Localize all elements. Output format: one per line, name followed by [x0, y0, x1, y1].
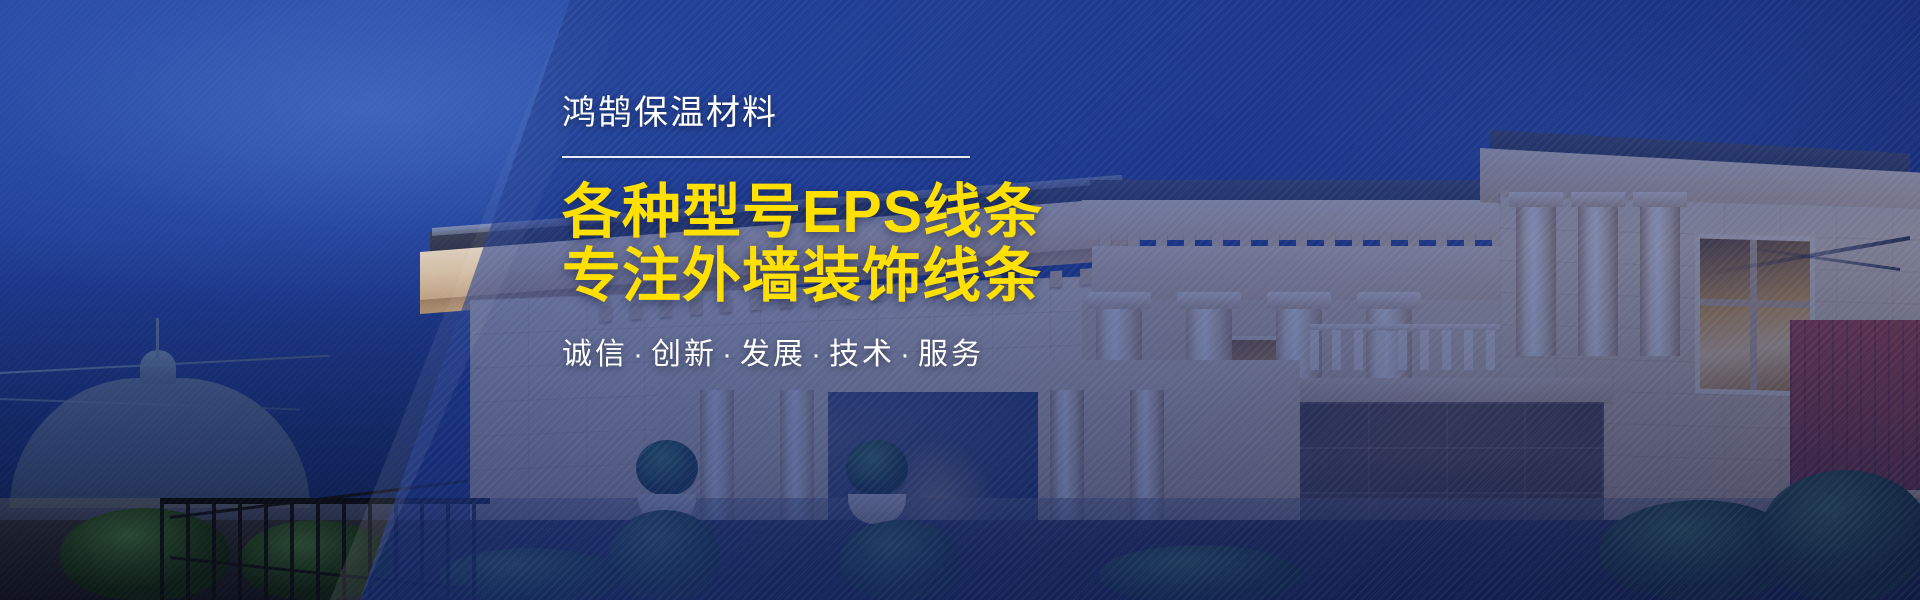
tagline-separator: ·	[722, 338, 735, 371]
shrub	[1100, 545, 1300, 600]
red-container-ribs	[1790, 320, 1920, 490]
garage-header	[1282, 378, 1612, 404]
right-wing-column	[1640, 206, 1680, 356]
tagline-item: 技术	[829, 338, 895, 371]
shrub	[610, 510, 720, 600]
divider-rule	[562, 156, 970, 158]
tagline-item: 服务	[918, 338, 984, 371]
tagline-item: 诚信	[562, 338, 628, 371]
balustrade	[1310, 330, 1500, 370]
planter-shrub	[636, 440, 698, 496]
banner-copy: 鸿鹄保温材料 各种型号EPS线条 专注外墙装饰线条 诚信·创新·发展·技术·服务	[562, 96, 1322, 370]
tagline-item: 发展	[740, 338, 806, 371]
tagline-separator: ·	[811, 338, 824, 371]
right-wing-column	[1578, 206, 1618, 356]
hero-banner: 鸿鹄保温材料 各种型号EPS线条 专注外墙装饰线条 诚信·创新·发展·技术·服务	[0, 0, 1920, 600]
tagline: 诚信·创新·发展·技术·服务	[562, 340, 1322, 370]
tagline-item: 创新	[651, 338, 717, 371]
right-wing-column	[1516, 206, 1556, 356]
company-name: 鸿鹄保温材料	[562, 96, 1322, 130]
headline-line-1: 各种型号EPS线条	[562, 179, 1043, 245]
tagline-separator: ·	[900, 338, 913, 371]
planter-shrub	[846, 440, 908, 496]
shrub	[1760, 470, 1920, 600]
background-mast	[156, 318, 159, 358]
headline-line-2: 专注外墙装饰线条	[562, 246, 1322, 306]
shrub	[840, 520, 960, 600]
tagline-separator: ·	[633, 338, 646, 371]
headline: 各种型号EPS线条 专注外墙装饰线条	[562, 182, 1322, 306]
